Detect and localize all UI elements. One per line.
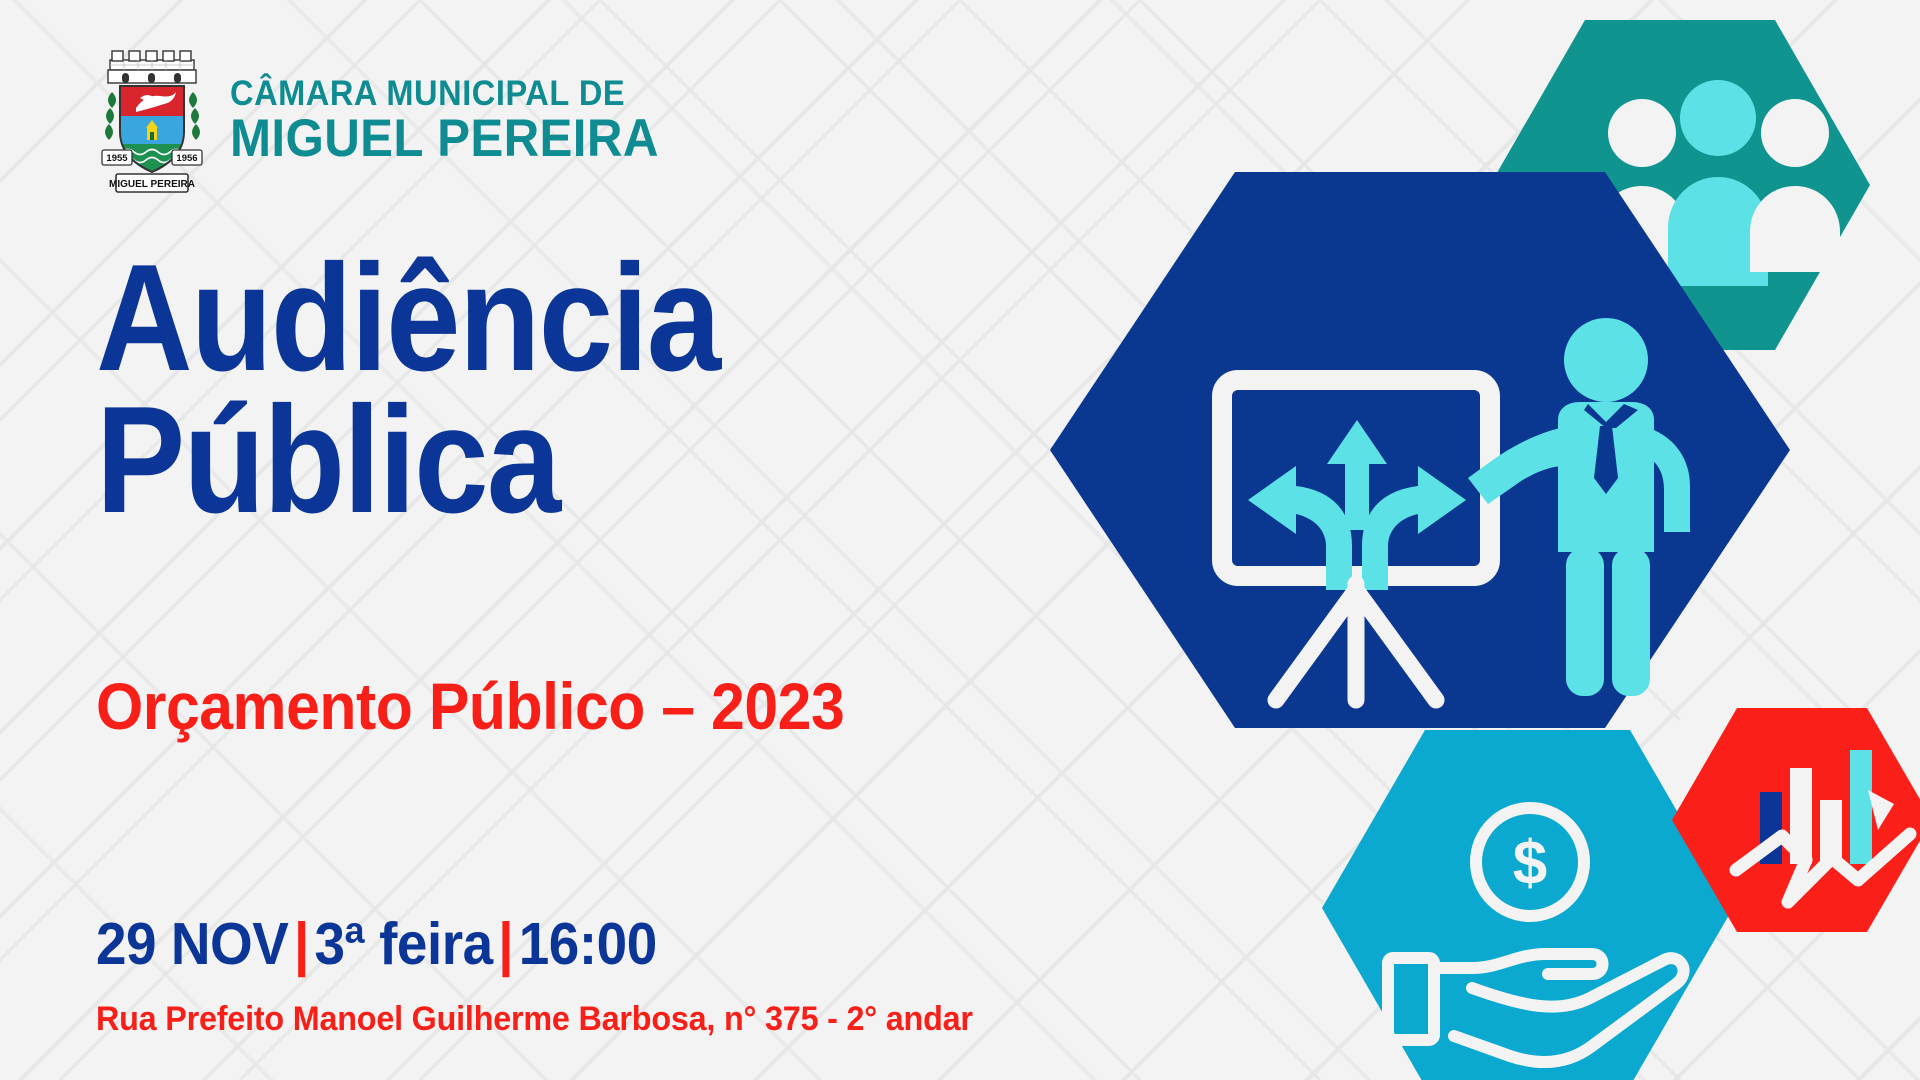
miguel-pereira-coat-of-arms: 1955 1956 MIGUEL PEREIRA: [96, 46, 208, 196]
crest-year-left: 1955: [106, 153, 128, 164]
crest-year-right: 1956: [176, 153, 197, 164]
page-subtitle: Orçamento Público – 2023: [96, 668, 844, 744]
svg-text:$: $: [1513, 829, 1547, 898]
org-line-2: MIGUEL PEREIRA: [230, 114, 659, 165]
poster-canvas: $: [0, 0, 1920, 1080]
title-line-1: Audiência: [96, 252, 719, 386]
event-weekday: 3ª feira: [314, 911, 492, 977]
org-line-1: CÂMARA MUNICIPAL DE: [230, 77, 659, 111]
page-title: Audiência Pública: [96, 252, 804, 528]
event-address: Rua Prefeito Manoel Guilherme Barbosa, n…: [96, 1000, 973, 1039]
dollar-sign-glyph: $: [1513, 829, 1547, 898]
title-line-2: Pública: [96, 394, 719, 528]
event-time: 16:00: [519, 911, 657, 977]
datetime-separator-2: |: [493, 911, 519, 977]
brand-header: 1955 1956 MIGUEL PEREIRA CÂMARA MUNICIPA…: [96, 46, 691, 196]
organization-name: CÂMARA MUNICIPAL DE MIGUEL PEREIRA: [230, 77, 691, 165]
event-datetime: 29 NOV|3ª feira|16:00: [96, 910, 657, 978]
datetime-separator-1: |: [288, 911, 314, 977]
event-date: 29 NOV: [96, 911, 288, 977]
crest-banner-text: MIGUEL PEREIRA: [109, 179, 195, 190]
hex-money-group: $: [1322, 730, 1733, 1080]
